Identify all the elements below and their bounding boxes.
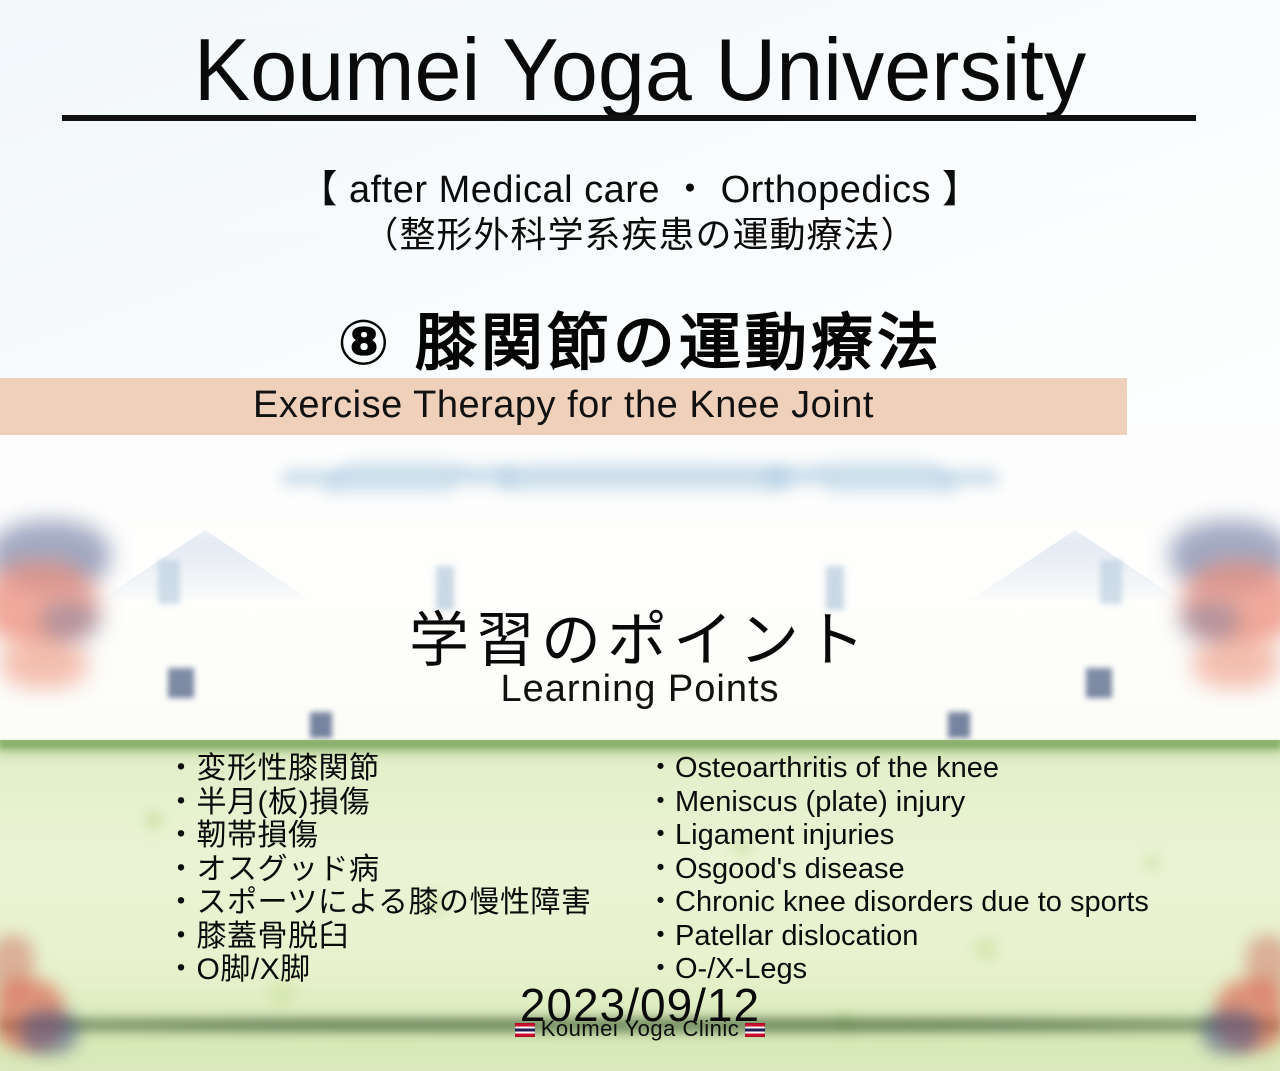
list-item: ・Meniscus (plate) injury [646, 786, 1206, 820]
clinic-credit: Koumei Yoga Clinic [0, 1016, 1280, 1042]
list-item: ・スポーツによる膝の慢性障害 [166, 886, 636, 920]
learning-points-heading-english: Learning Points [0, 668, 1280, 711]
subtitle-japanese: （整形外科学系疾患の運動療法） [0, 206, 1280, 258]
subtitle-english: 【 after Medical care ・ Orthopedics 】 [0, 158, 1280, 213]
list-item: ・半月(板)損傷 [166, 786, 636, 820]
bullet-list-english: ・Osteoarthritis of the knee ・Meniscus (p… [646, 752, 1206, 987]
section-heading-english: Exercise Therapy for the Knee Joint [0, 384, 1127, 427]
bullet-list-japanese: ・変形性膝関節 ・半月(板)損傷 ・靭帯損傷 ・オスグッド病 ・スポーツによる膝… [166, 752, 636, 987]
title-underline-rule [62, 115, 1196, 121]
section-heading-japanese: ⑧ 膝関節の運動療法 [0, 292, 1280, 382]
slide-content: Koumei Yoga University 【 after Medical c… [0, 0, 1280, 1071]
list-item: ・Ligament injuries [646, 819, 1206, 853]
list-item: ・Osteoarthritis of the knee [646, 752, 1206, 786]
list-item: ・オスグッド病 [166, 853, 636, 887]
page-title: Koumei Yoga University [26, 26, 1255, 114]
list-item: ・膝蓋骨脱臼 [166, 920, 636, 954]
list-item: ・Chronic knee disorders due to sports [646, 886, 1206, 920]
list-item: ・靭帯損傷 [166, 819, 636, 853]
list-item: ・Osgood's disease [646, 853, 1206, 887]
thailand-flag-icon [515, 1023, 535, 1037]
presentation-slide: Koumei Yoga University 【 after Medical c… [0, 0, 1280, 1071]
list-item: ・変形性膝関節 [166, 752, 636, 786]
clinic-name-label: Koumei Yoga Clinic [541, 1016, 740, 1041]
thailand-flag-icon [745, 1023, 765, 1037]
learning-points-heading-japanese: 学習のポイント [0, 592, 1280, 679]
list-item: ・Patellar dislocation [646, 920, 1206, 954]
